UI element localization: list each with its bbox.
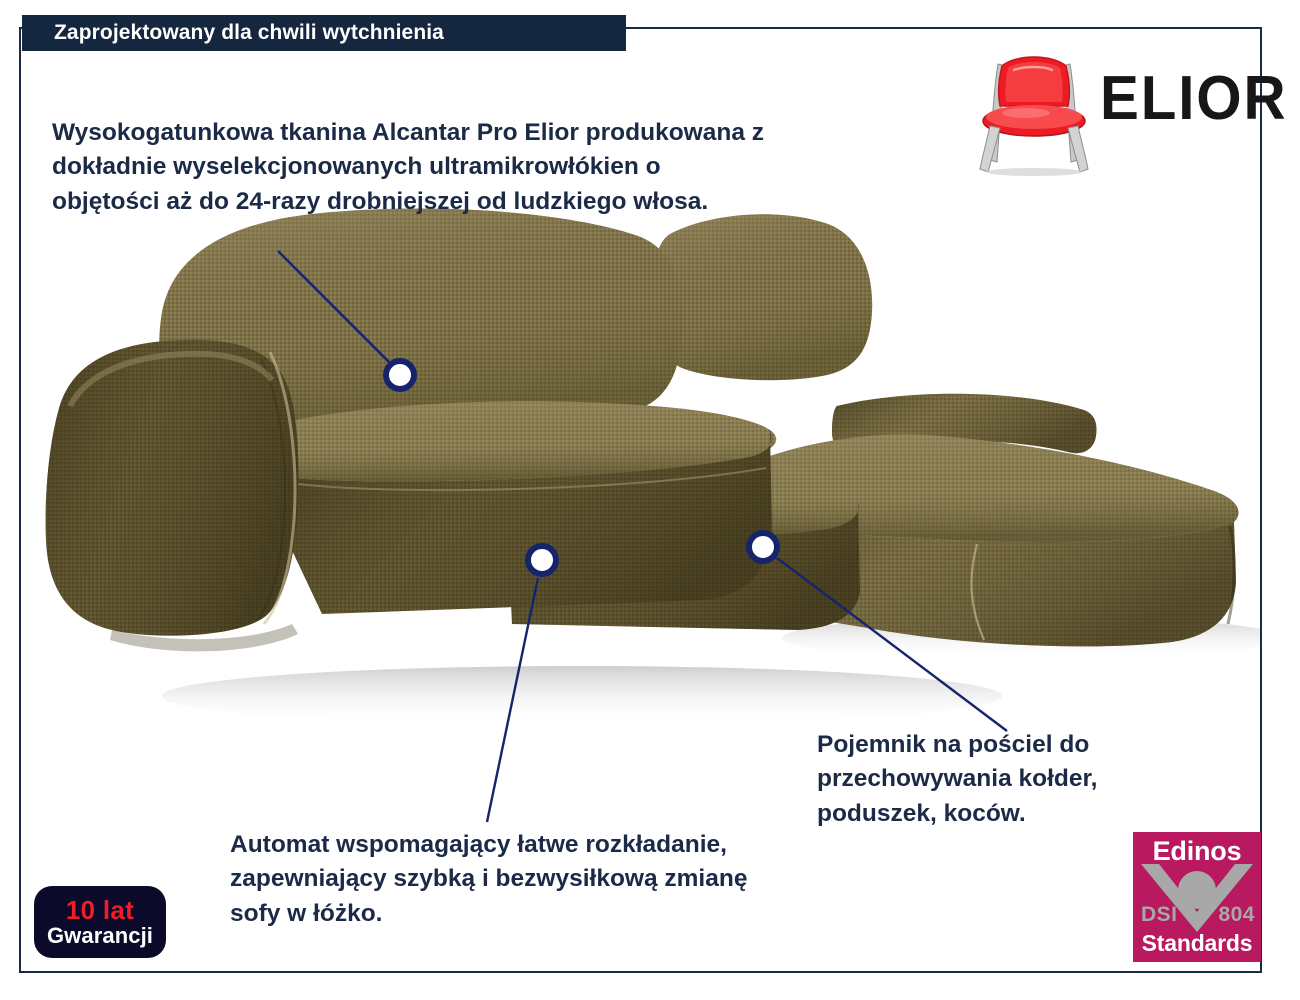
certificate-badge: Edinos DSI 804 Standards: [1133, 832, 1261, 962]
warranty-badge: 10 lat Gwarancji: [34, 886, 166, 958]
warranty-years: 10 lat: [66, 897, 134, 924]
callout-dot-mechanism[interactable]: [525, 543, 559, 577]
certificate-standards-label: Standards: [1133, 930, 1261, 957]
infographic-page: Zaprojektowany dla chwili wytchnienia EL…: [0, 0, 1300, 1000]
brand-wordmark: ELIOR: [1100, 68, 1287, 130]
callout-dot-storage[interactable]: [746, 530, 780, 564]
feature-text-mechanism: Automat wspomagający łatwe rozkładanie, …: [230, 828, 790, 931]
sofa-illustration: [22, 200, 1260, 800]
brand-logo: ELIOR: [978, 48, 1258, 178]
certificate-code-number: 804: [1218, 903, 1255, 927]
feature-text-storage: Pojemnik na pościel do przechowywania ko…: [817, 728, 1217, 831]
callout-dot-fabric[interactable]: [383, 358, 417, 392]
header-ribbon: Zaprojektowany dla chwili wytchnienia: [22, 15, 626, 51]
page-title: Zaprojektowany dla chwili wytchnienia: [54, 21, 444, 45]
product-photo: [22, 200, 1260, 800]
certificate-code-prefix: DSI: [1141, 903, 1178, 927]
feature-text-fabric: Wysokogatunkowa tkanina Alcantar Pro Eli…: [52, 116, 772, 219]
red-chair-icon: [978, 48, 1090, 176]
warranty-label: Gwarancji: [47, 924, 153, 947]
